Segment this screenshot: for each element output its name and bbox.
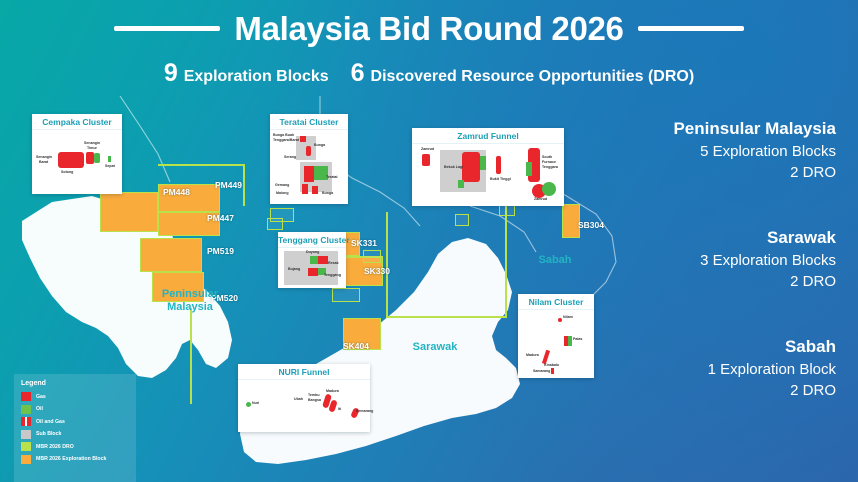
header-stats: 9 Exploration Blocks 6 Discovered Resour… bbox=[0, 58, 858, 88]
field-shape-gas bbox=[422, 154, 430, 166]
field-shape-gas bbox=[312, 186, 318, 194]
block-label-sk330: SK330 bbox=[364, 266, 390, 276]
legend-label: Oil bbox=[36, 406, 43, 412]
region-summary-panel: Peninsular Malaysia 5 Exploration Blocks… bbox=[566, 118, 836, 401]
field-label: Zamrud bbox=[534, 198, 547, 202]
title-rule-right bbox=[638, 26, 744, 31]
field-shape-gas bbox=[551, 368, 554, 374]
field-label: Kinabalu bbox=[544, 364, 559, 368]
dro-marker[interactable] bbox=[455, 214, 469, 226]
field-label: Malong bbox=[276, 192, 289, 196]
summary-title: Sarawak bbox=[566, 227, 836, 250]
region-label-sarawak: Sarawak bbox=[395, 341, 475, 354]
legend-item-gas: Gas bbox=[21, 392, 129, 401]
field-shape-gas bbox=[306, 146, 311, 156]
summary-title: Sabah bbox=[566, 336, 836, 359]
legend-swatch bbox=[21, 405, 31, 414]
summary-line: 2 DRO bbox=[566, 271, 836, 292]
block-label-pm448: PM448 bbox=[163, 187, 190, 197]
legend-swatch bbox=[21, 442, 31, 451]
field-label: Gemang bbox=[275, 184, 289, 188]
block-pm519[interactable] bbox=[140, 238, 202, 272]
panel-teratai-cluster[interactable]: Teratai Cluster Bunga Buah Tenggara/Bara… bbox=[270, 114, 348, 204]
field-label: Bunga bbox=[322, 192, 333, 196]
field-shape-gas bbox=[318, 256, 328, 264]
panel-body: Senangin Barat Senangin Timur Sotong Sep… bbox=[32, 130, 122, 192]
dro-connector-line bbox=[386, 212, 388, 316]
field-shape-gas bbox=[304, 166, 314, 182]
stat-label: Discovered Resource Opportunities (DRO) bbox=[371, 69, 695, 85]
summary-line: 5 Exploration Blocks bbox=[566, 141, 836, 162]
header: Malaysia Bid Round 2026 bbox=[0, 4, 858, 52]
panel-body: Zamrud Bekok Lagi Bukit Tinggi South Fur… bbox=[412, 144, 564, 204]
region-label-peninsular-malaysia: Peninsular Malaysia bbox=[145, 288, 235, 313]
panel-cempaka-cluster[interactable]: Cempaka Cluster Senangin Barat Senangin … bbox=[32, 114, 122, 194]
block-label-sk331: SK331 bbox=[351, 238, 377, 248]
field-label: Ubah bbox=[294, 398, 303, 402]
legend-label: MBR 2026 DRO bbox=[36, 444, 74, 450]
page-title: Malaysia Bid Round 2026 bbox=[234, 12, 623, 45]
panel-body: Duyong Resak Bujang Tenggang bbox=[278, 248, 346, 288]
field-shape-gas bbox=[58, 152, 84, 168]
field-label: Madura bbox=[526, 354, 539, 358]
field-shape-gas bbox=[302, 184, 308, 194]
field-shape-oil bbox=[480, 156, 486, 170]
field-label: Sepat bbox=[105, 165, 115, 169]
field-shape-gas bbox=[558, 318, 562, 322]
block-pm448[interactable] bbox=[100, 192, 158, 232]
field-label: Teratai bbox=[326, 176, 338, 180]
field-label: Iti bbox=[338, 408, 341, 412]
field-label: Samarang bbox=[533, 370, 550, 374]
field-label: Timur bbox=[87, 147, 97, 151]
infographic-canvas: Malaysia Bid Round 2026 9 Exploration Bl… bbox=[0, 0, 858, 482]
panel-nuri-funnel[interactable]: NURI Funnel Nuri Ubah Tembu Bangsa Madur… bbox=[238, 364, 370, 432]
panel-title: Teratai Cluster bbox=[270, 114, 348, 130]
legend-item-mbr-2026-dro: MBR 2026 DRO bbox=[21, 442, 129, 451]
panel-title: Zamrud Funnel bbox=[412, 128, 564, 144]
field-label: Bekok Lagi bbox=[444, 166, 463, 170]
dro-marker[interactable] bbox=[332, 288, 360, 302]
legend-item-oil-and-gas: Oil and Gas bbox=[21, 417, 129, 426]
legend-swatch bbox=[21, 392, 31, 401]
field-shape-oil bbox=[94, 153, 100, 163]
field-shape-oil bbox=[458, 180, 464, 188]
field-label: Bukit Tinggi bbox=[490, 178, 511, 182]
region-label-line: Peninsular bbox=[145, 288, 235, 301]
field-label: Tenggara/Barat bbox=[273, 139, 299, 143]
panel-title: Cempaka Cluster bbox=[32, 114, 122, 130]
field-label: Bunga bbox=[314, 144, 325, 148]
title-rule-left bbox=[114, 26, 220, 31]
panel-body: Nuri Ubah Tembu Bangsa Madura Iti Semara… bbox=[238, 380, 370, 430]
field-shape-oil bbox=[246, 402, 251, 407]
summary-line: 2 DRO bbox=[566, 162, 836, 183]
field-label: Tenggang bbox=[324, 274, 341, 278]
legend-label: MBR 2026 Exploration Block bbox=[36, 456, 106, 462]
field-label: Bujang bbox=[288, 268, 300, 272]
panel-body: Bunga Buah Tenggara/Barat Bunga Serang T… bbox=[270, 130, 348, 202]
legend: Legend Gas Oil Oil and Gas Sub Block MBR… bbox=[14, 374, 136, 482]
field-label: Tenggara bbox=[542, 166, 558, 170]
dro-connector-line bbox=[505, 200, 507, 318]
legend-label: Gas bbox=[36, 394, 46, 400]
summary-line: 2 DRO bbox=[566, 380, 836, 401]
stat-dro: 6 Discovered Resource Opportunities (DRO… bbox=[351, 61, 695, 86]
panel-title: NURI Funnel bbox=[238, 364, 370, 380]
field-label: Zamrud bbox=[421, 148, 434, 152]
field-label: Duyong bbox=[306, 251, 319, 255]
dro-marker[interactable] bbox=[363, 250, 381, 263]
legend-title: Legend bbox=[21, 380, 129, 387]
dro-connector-line bbox=[386, 316, 506, 318]
block-label-sk404: SK404 bbox=[343, 341, 369, 351]
panel-title: Tenggang Cluster bbox=[278, 232, 346, 248]
field-shape-gas bbox=[86, 152, 94, 164]
field-label: Resak bbox=[328, 262, 339, 266]
legend-swatch bbox=[21, 455, 31, 464]
legend-item-sub-block: Sub Block bbox=[21, 430, 129, 439]
stat-number: 6 bbox=[351, 61, 365, 86]
dro-connector-line bbox=[158, 164, 244, 166]
summary-line: 1 Exploration Block bbox=[566, 359, 836, 380]
field-shape-gas bbox=[462, 152, 480, 182]
field-shape-oil bbox=[108, 156, 111, 162]
panel-zamrud-funnel[interactable]: Zamrud Funnel Zamrud Bekok Lagi Bukit Ti… bbox=[412, 128, 564, 206]
field-shape-gas bbox=[308, 268, 318, 276]
dro-connector-line bbox=[243, 164, 245, 206]
field-label: Nuri bbox=[252, 402, 259, 406]
panel-tenggang-cluster[interactable]: Tenggang Cluster Duyong Resak Bujang Ten… bbox=[278, 232, 346, 288]
region-label-line: Malaysia bbox=[145, 301, 235, 314]
field-shape-oil bbox=[542, 182, 556, 196]
stat-label: Exploration Blocks bbox=[184, 69, 329, 85]
field-shape-gas bbox=[300, 136, 306, 142]
field-label: Serang bbox=[284, 156, 296, 160]
field-label: Sotong bbox=[61, 171, 73, 175]
legend-label: Oil and Gas bbox=[36, 419, 65, 425]
dro-connector-line bbox=[190, 308, 192, 404]
field-shape-gas bbox=[496, 156, 501, 174]
field-shape-oil bbox=[526, 162, 532, 176]
legend-label: Sub Block bbox=[36, 431, 61, 437]
block-label-pm449: PM449 bbox=[215, 180, 242, 190]
summary-peninsular-malaysia: Peninsular Malaysia 5 Exploration Blocks… bbox=[566, 118, 836, 183]
legend-item-mbr-2026-exploration-block: MBR 2026 Exploration Block bbox=[21, 455, 129, 464]
block-label-pm519: PM519 bbox=[207, 246, 234, 256]
summary-title: Peninsular Malaysia bbox=[566, 118, 836, 141]
stat-exploration-blocks: 9 Exploration Blocks bbox=[164, 61, 329, 86]
field-label: Madura bbox=[326, 390, 339, 394]
field-label: Semarang bbox=[356, 410, 373, 414]
legend-swatch bbox=[21, 417, 31, 426]
block-label-pm447: PM447 bbox=[207, 213, 234, 223]
stat-number: 9 bbox=[164, 61, 178, 86]
summary-sarawak: Sarawak 3 Exploration Blocks 2 DRO bbox=[566, 227, 836, 292]
field-label: Barat bbox=[39, 161, 48, 165]
dro-marker[interactable] bbox=[270, 208, 294, 222]
legend-swatch bbox=[21, 430, 31, 439]
summary-sabah: Sabah 1 Exploration Block 2 DRO bbox=[566, 336, 836, 401]
legend-item-oil: Oil bbox=[21, 405, 129, 414]
summary-line: 3 Exploration Blocks bbox=[566, 250, 836, 271]
field-label: Bangsa bbox=[308, 399, 321, 403]
